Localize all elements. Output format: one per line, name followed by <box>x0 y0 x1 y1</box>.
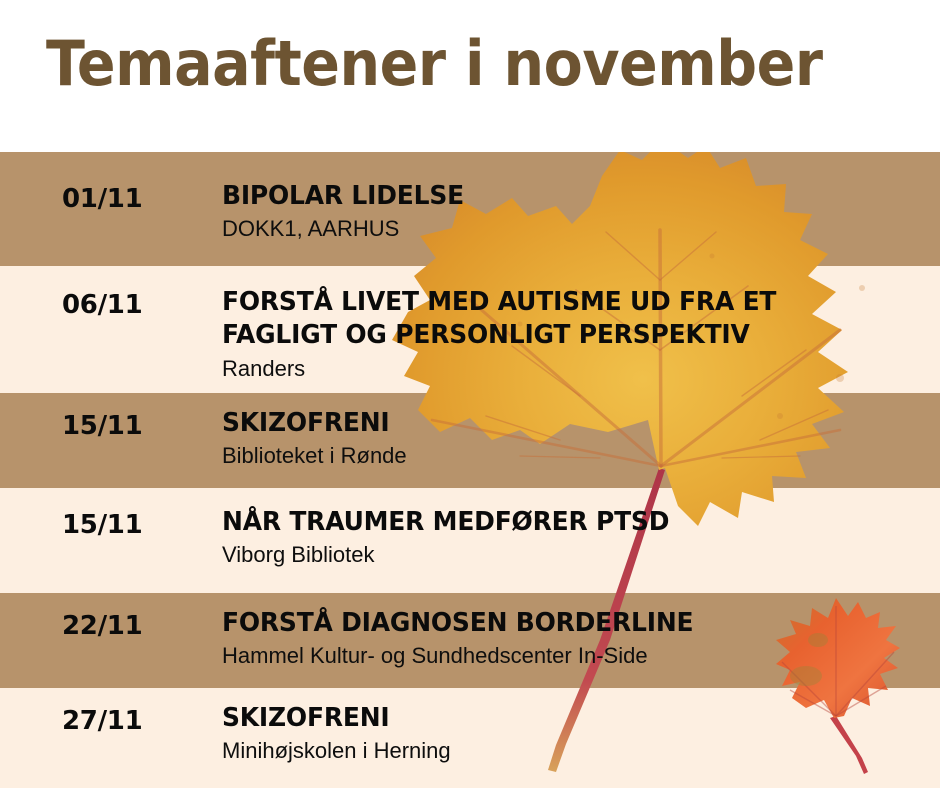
entry-title-line1: FORSTÅ LIVET MED AUTISME UD FRA ET <box>222 286 894 319</box>
entry-body: SKIZOFRENI Biblioteket i Rønde <box>222 407 922 471</box>
poster-canvas: Temaaftener i november 01/11 BIPOLAR LID… <box>0 0 940 788</box>
entry-venue: Hammel Kultur- og Sundhedscenter In-Side <box>222 642 922 671</box>
entry-body: FORSTÅ LIVET MED AUTISME UD FRA ET FAGLI… <box>222 286 922 383</box>
list-item[interactable]: 15/11 NÅR TRAUMER MEDFØRER PTSD Viborg B… <box>0 488 940 593</box>
list-item[interactable]: 01/11 BIPOLAR LIDELSE DOKK1, AARHUS <box>0 152 940 266</box>
entry-venue: Minihøjskolen i Herning <box>222 737 922 766</box>
entry-date: 22/11 <box>62 611 142 641</box>
entry-body: BIPOLAR LIDELSE DOKK1, AARHUS <box>222 180 922 244</box>
entry-title: FORSTÅ DIAGNOSEN BORDERLINE <box>222 607 894 640</box>
list-item[interactable]: 15/11 SKIZOFRENI Biblioteket i Rønde <box>0 393 940 488</box>
entry-date: 01/11 <box>62 184 142 214</box>
entry-title-line2: FAGLIGT OG PERSONLIGT PERSPEKTIV <box>222 319 894 352</box>
entry-venue: Viborg Bibliotek <box>222 541 922 570</box>
entry-body: SKIZOFRENI Minihøjskolen i Herning <box>222 702 922 766</box>
list-item[interactable]: 22/11 FORSTÅ DIAGNOSEN BORDERLINE Hammel… <box>0 593 940 688</box>
entry-venue: Randers <box>222 355 922 384</box>
entry-title: NÅR TRAUMER MEDFØRER PTSD <box>222 506 894 539</box>
page-title: Temaaftener i november <box>46 28 823 99</box>
list-item[interactable]: 06/11 FORSTÅ LIVET MED AUTISME UD FRA ET… <box>0 266 940 393</box>
entry-date: 06/11 <box>62 290 142 320</box>
entry-title: SKIZOFRENI <box>222 407 894 440</box>
entry-date: 27/11 <box>62 706 142 736</box>
list-item[interactable]: 27/11 SKIZOFRENI Minihøjskolen i Herning <box>0 688 940 788</box>
entry-title: BIPOLAR LIDELSE <box>222 180 894 213</box>
entry-venue: DOKK1, AARHUS <box>222 215 922 244</box>
entry-body: FORSTÅ DIAGNOSEN BORDERLINE Hammel Kultu… <box>222 607 922 671</box>
entry-date: 15/11 <box>62 510 142 540</box>
entry-title: SKIZOFRENI <box>222 702 894 735</box>
entry-venue: Biblioteket i Rønde <box>222 442 922 471</box>
poster-header: Temaaftener i november <box>0 0 940 152</box>
entry-date: 15/11 <box>62 411 142 441</box>
entry-body: NÅR TRAUMER MEDFØRER PTSD Viborg Bibliot… <box>222 506 922 570</box>
